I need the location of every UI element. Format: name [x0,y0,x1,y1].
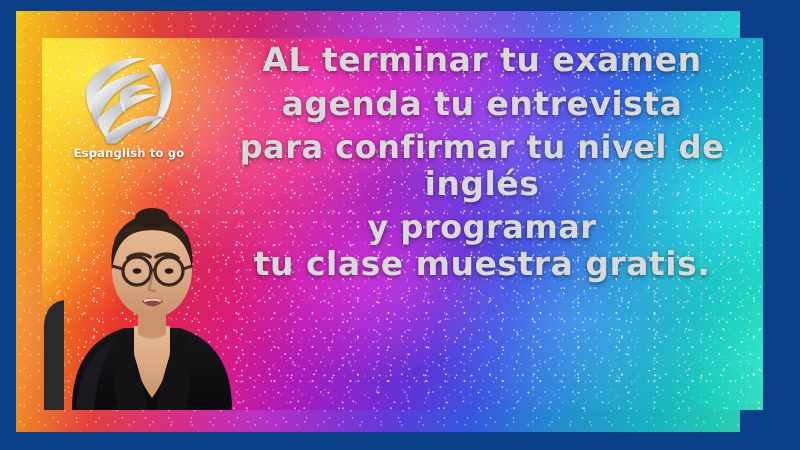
slide-canvas: Espanglish to go [0,0,800,450]
background-panel-front: Espanglish to go [42,38,763,410]
brand-logo: Espanglish to go [54,46,204,176]
headline-line-1: AL terminar tu examen [202,42,762,79]
globe-swoosh-icon [77,46,181,144]
headline-line-4: inglés [202,166,762,203]
headline-line-5: y programar [202,210,762,246]
headline-line-2: agenda tu entrevista [202,86,762,123]
headline-text: AL terminar tu examen agenda tu entrevis… [202,42,762,282]
brand-name-label: Espanglish to go [74,146,185,160]
headline-line-3: para confirmar tu nivel de [202,130,762,166]
headline-line-6: tu clase muestra gratis. [202,246,762,283]
